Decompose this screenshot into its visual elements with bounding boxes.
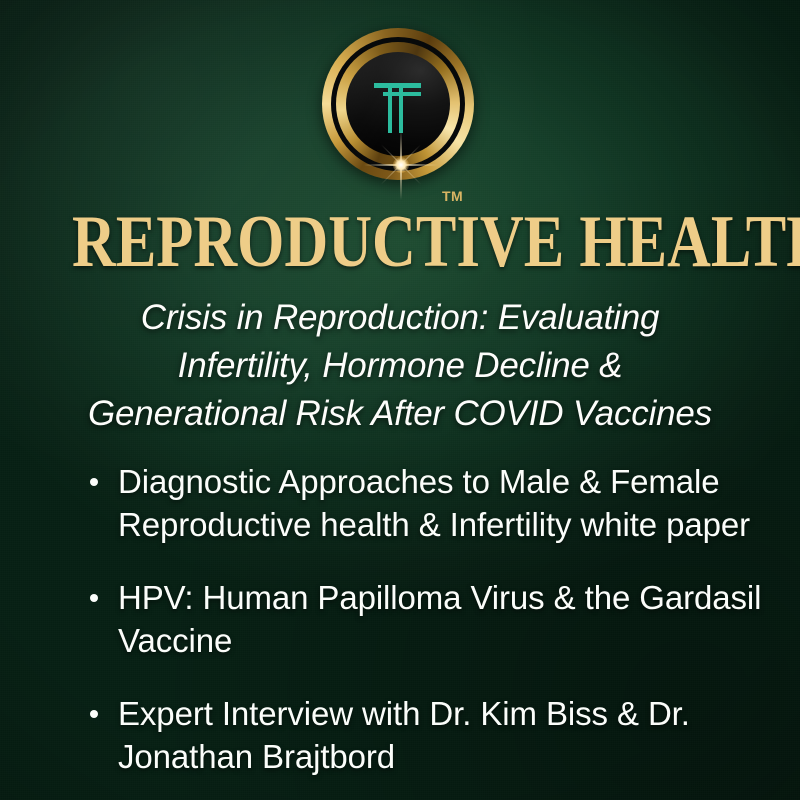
double-t-monogram-gold-ring-logo-icon [322,28,474,180]
bullet-dot-icon [90,478,98,486]
list-item-label: Expert Interview with Dr. Kim Biss & Dr.… [118,692,772,778]
topic-list: Diagnostic Approaches to Male & Female R… [82,460,772,778]
logo-double-t-monogram-icon [346,52,450,156]
list-item: Expert Interview with Dr. Kim Biss & Dr.… [82,692,772,778]
bullet-dot-icon [90,594,98,602]
page-title: REPRODUCTIVE HEALTH [72,205,728,279]
brand-logo-block: TM [0,28,800,188]
bullet-dot-icon [90,710,98,718]
list-item: HPV: Human Papilloma Virus & the Gardasi… [82,576,772,662]
reproductive-health-poster: TM REPRODUCTIVE HEALTH Crisis in Reprodu… [0,0,800,800]
logo-black-disc [346,52,450,156]
list-item: Diagnostic Approaches to Male & Female R… [82,460,772,546]
list-item-label: HPV: Human Papilloma Virus & the Gardasi… [118,576,772,662]
list-item-label: Diagnostic Approaches to Male & Female R… [118,460,772,546]
page-subtitle: Crisis in Reproduction: Evaluating Infer… [14,294,786,438]
subtitle-line-2: Infertility, Hormone Decline & [14,342,786,390]
subtitle-line-3: Generational Risk After COVID Vaccines [14,390,786,438]
subtitle-line-1: Crisis in Reproduction: Evaluating [14,294,786,342]
